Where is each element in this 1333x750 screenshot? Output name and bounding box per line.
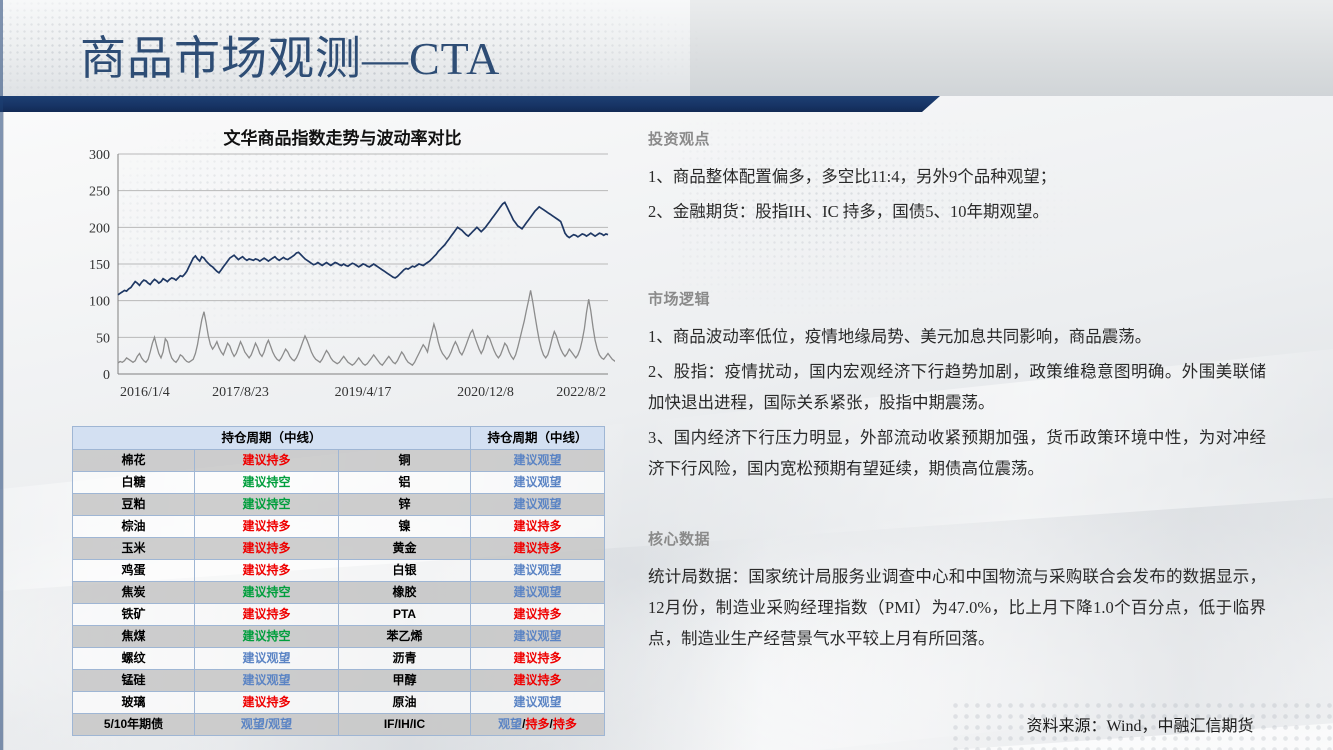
row-advice-left: 建议持空 xyxy=(195,472,339,494)
section-heading-market-logic: 市场逻辑 xyxy=(648,288,1266,309)
row-name-right: 甲醇 xyxy=(339,670,471,692)
row-advice-left: 建议观望 xyxy=(195,670,339,692)
row-name-left: 铁矿 xyxy=(73,604,195,626)
section-heading-investment-view: 投资观点 xyxy=(648,128,1266,149)
core-data-item-1: 统计局数据：国家统计局服务业调查中心和中国物流与采购联合会发布的数据显示，12月… xyxy=(648,561,1266,654)
row-advice-right: 建议观望 xyxy=(471,560,605,582)
source-note: 资料来源：Wind，中融汇信期货 xyxy=(955,712,1325,736)
row-advice-left: 建议持多 xyxy=(195,692,339,714)
row-advice-right: 建议观望 xyxy=(471,472,605,494)
row-name-right: PTA xyxy=(339,604,471,626)
row-name-right: 苯乙烯 xyxy=(339,626,471,648)
row-name-left: 玻璃 xyxy=(73,692,195,714)
table: 持仓周期（中线） 持仓周期（中线） 棉花建议持多铜建议观望白糖建议持空铝建议观望… xyxy=(72,426,605,736)
chart-x-tick-label: 2017/8/23 xyxy=(212,385,269,400)
chart-x-tick-label: 2020/12/8 xyxy=(457,385,514,400)
left-edge-hairline xyxy=(3,112,4,750)
chart-series-volatility xyxy=(118,290,615,365)
row-name-right: 橡胶 xyxy=(339,582,471,604)
table-row: 鸡蛋建议持多白银建议观望 xyxy=(73,560,605,582)
table-row: 棉花建议持多铜建议观望 xyxy=(73,450,605,472)
row-name-left: 焦炭 xyxy=(73,582,195,604)
row-advice-right: 建议观望 xyxy=(471,494,605,516)
section-investment-view: 投资观点 1、商品整体配置偏多，多空比11:4，另外9个品种观望； 2、金融期货… xyxy=(648,128,1266,231)
row-advice-right: 建议持多 xyxy=(471,670,605,692)
row-advice-right: 建议持多 xyxy=(471,604,605,626)
market-logic-item-2: 2、股指：疫情扰动，国内宏观经济下行趋势加剧，政策维稳意图明确。外围美联储加快退… xyxy=(648,356,1266,418)
header-accent-bar xyxy=(0,96,940,112)
table-header-row: 持仓周期（中线） 持仓周期（中线） xyxy=(73,427,605,450)
row-name-left: 焦煤 xyxy=(73,626,195,648)
table-head: 持仓周期（中线） 持仓周期（中线） xyxy=(73,427,605,450)
section-core-data: 核心数据 统计局数据：国家统计局服务业调查中心和中国物流与采购联合会发布的数据显… xyxy=(648,528,1266,658)
header-band-right xyxy=(690,0,1333,96)
row-name-right: 锌 xyxy=(339,494,471,516)
row-advice-left: 建议持多 xyxy=(195,560,339,582)
row-name-right: 沥青 xyxy=(339,648,471,670)
chart-y-axis-ticks: 050100150200250300 xyxy=(89,148,110,383)
commodity-index-chart: 文华商品指数走势与波动率对比 050100150200250300 2016/1… xyxy=(70,124,615,409)
table-header-right: 持仓周期（中线） xyxy=(471,427,605,450)
row-advice-right: 建议持多 xyxy=(471,538,605,560)
chart-series-index xyxy=(118,202,608,294)
table-header-left: 持仓周期（中线） xyxy=(73,427,471,450)
table-row: 棕油建议持多镍建议持多 xyxy=(73,516,605,538)
chart-x-tick-label: 2022/8/2 xyxy=(556,385,606,400)
chart-y-tick-label: 100 xyxy=(89,295,110,310)
row-advice-left: 建议持多 xyxy=(195,516,339,538)
table-row: 焦炭建议持空橡胶建议观望 xyxy=(73,582,605,604)
row-advice-left: 建议持多 xyxy=(195,604,339,626)
row-advice-left: 建议持空 xyxy=(195,582,339,604)
table-row: 焦煤建议持空苯乙烯建议观望 xyxy=(73,626,605,648)
table-row-bonds: 5/10年期债观望/观望IF/IH/IC观望/持多/持多 xyxy=(73,714,605,736)
row-advice-right: 建议观望 xyxy=(471,692,605,714)
row-advice-left: 观望/观望 xyxy=(195,714,339,736)
table-row: 螺纹建议观望沥青建议持多 xyxy=(73,648,605,670)
chart-y-tick-label: 300 xyxy=(89,148,110,163)
slide-canvas: 商品市场观测—CTA 文华商品指数走势与波动率对比 05010015020025… xyxy=(0,0,1333,750)
market-logic-item-1: 1、商品波动率低位，疫情地缘局势、美元加息共同影响，商品震荡。 xyxy=(648,321,1266,352)
row-name-left: 5/10年期债 xyxy=(73,714,195,736)
row-name-left: 玉米 xyxy=(73,538,195,560)
row-name-left: 豆粕 xyxy=(73,494,195,516)
table-row: 铁矿建议持多PTA建议持多 xyxy=(73,604,605,626)
row-name-right: 原油 xyxy=(339,692,471,714)
row-name-right: 镍 xyxy=(339,516,471,538)
position-period-table: 持仓周期（中线） 持仓周期（中线） 棉花建议持多铜建议观望白糖建议持空铝建议观望… xyxy=(72,426,604,736)
row-name-left: 鸡蛋 xyxy=(73,560,195,582)
table-row: 白糖建议持空铝建议观望 xyxy=(73,472,605,494)
chart-y-tick-label: 200 xyxy=(89,221,110,236)
investment-view-item-1: 1、商品整体配置偏多，多空比11:4，另外9个品种观望； xyxy=(648,161,1266,192)
row-advice-left: 建议持空 xyxy=(195,494,339,516)
chart-plot: 050100150200250300 2016/1/42017/8/232019… xyxy=(70,148,615,406)
page-title: 商品市场观测—CTA xyxy=(80,30,500,88)
row-name-right: IF/IH/IC xyxy=(339,714,471,736)
chart-y-tick-label: 0 xyxy=(103,368,110,383)
row-advice-right: 建议观望 xyxy=(471,450,605,472)
row-advice-left: 建议持空 xyxy=(195,626,339,648)
row-name-right: 铜 xyxy=(339,450,471,472)
row-advice-right: 建议观望 xyxy=(471,582,605,604)
row-advice-right: 建议持多 xyxy=(471,516,605,538)
table-row: 豆粕建议持空锌建议观望 xyxy=(73,494,605,516)
row-name-right: 铝 xyxy=(339,472,471,494)
row-name-left: 棕油 xyxy=(73,516,195,538)
table-row: 玉米建议持多黄金建议持多 xyxy=(73,538,605,560)
row-advice-right: 建议观望 xyxy=(471,626,605,648)
row-advice-left: 建议持多 xyxy=(195,538,339,560)
chart-y-tick-label: 50 xyxy=(96,331,110,346)
table-row: 玻璃建议持多原油建议观望 xyxy=(73,692,605,714)
table-body: 棉花建议持多铜建议观望白糖建议持空铝建议观望豆粕建议持空锌建议观望棕油建议持多镍… xyxy=(73,450,605,736)
chart-x-axis-ticks: 2016/1/42017/8/232019/4/172020/12/82022/… xyxy=(120,385,606,400)
chart-x-tick-label: 2019/4/17 xyxy=(335,385,392,400)
section-market-logic: 市场逻辑 1、商品波动率低位，疫情地缘局势、美元加息共同影响，商品震荡。 2、股… xyxy=(648,288,1266,488)
chart-x-tick-label: 2016/1/4 xyxy=(120,385,170,400)
row-advice-right: 观望/持多/持多 xyxy=(471,714,605,736)
row-advice-right: 建议持多 xyxy=(471,648,605,670)
row-name-left: 白糖 xyxy=(73,472,195,494)
row-advice-left: 建议持多 xyxy=(195,450,339,472)
row-name-right: 白银 xyxy=(339,560,471,582)
row-name-left: 锰硅 xyxy=(73,670,195,692)
chart-y-tick-label: 250 xyxy=(89,185,110,200)
table-row: 锰硅建议观望甲醇建议持多 xyxy=(73,670,605,692)
row-advice-left: 建议观望 xyxy=(195,648,339,670)
section-heading-core-data: 核心数据 xyxy=(648,528,1266,549)
chart-title: 文华商品指数走势与波动率对比 xyxy=(70,124,615,149)
market-logic-item-3: 3、国内经济下行压力明显，外部流动收紧预期加强，货币政策环境中性，为对冲经济下行… xyxy=(648,422,1266,484)
row-name-left: 棉花 xyxy=(73,450,195,472)
row-name-left: 螺纹 xyxy=(73,648,195,670)
chart-y-tick-label: 150 xyxy=(89,258,110,273)
investment-view-item-2: 2、金融期货：股指IH、IC 持多，国债5、10年期观望。 xyxy=(648,196,1266,227)
row-name-right: 黄金 xyxy=(339,538,471,560)
